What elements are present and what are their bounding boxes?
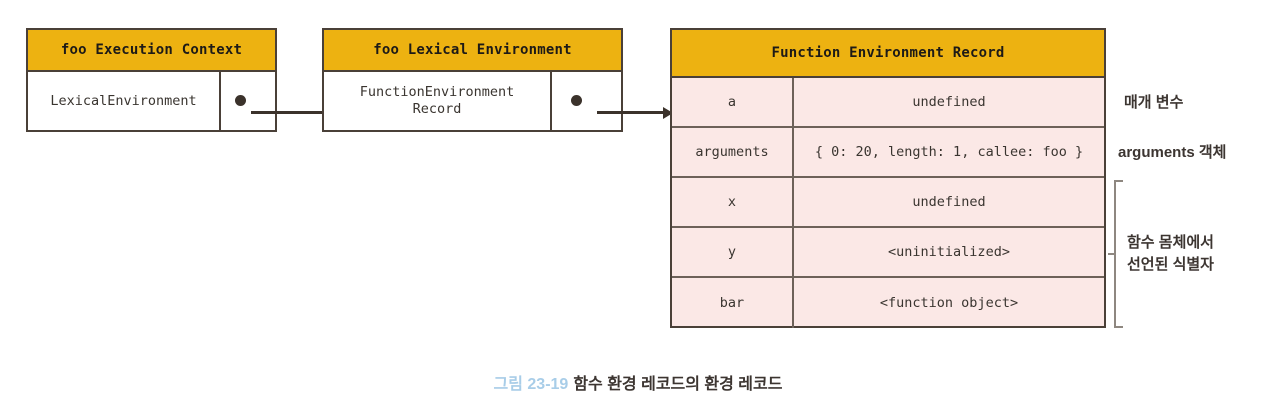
figure-caption-text: 함수 환경 레코드의 환경 레코드 — [573, 376, 782, 393]
execution-context-title: foo Execution Context — [28, 30, 275, 72]
arrow-line-le-to-fer — [597, 111, 667, 114]
table-row: arguments { 0: 20, length: 1, callee: fo… — [672, 128, 1104, 178]
record-key: y — [672, 228, 794, 276]
record-value: undefined — [794, 78, 1104, 126]
record-key: arguments — [672, 128, 794, 176]
record-key: bar — [672, 278, 794, 328]
record-value: { 0: 20, length: 1, callee: foo } — [794, 128, 1104, 176]
lexical-environment-pointer-cell — [219, 72, 275, 130]
lexical-environment-box: foo Lexical Environment FunctionEnvironm… — [322, 28, 623, 132]
annotation-arguments-object: arguments 객체 — [1118, 142, 1226, 164]
annotation-body-identifiers: 함수 몸체에서 선언된 식별자 — [1127, 232, 1214, 276]
diagram-canvas: foo Execution Context LexicalEnvironment… — [0, 0, 1276, 408]
figure-caption: 그림 23-19함수 환경 레코드의 환경 레코드 — [0, 370, 1276, 394]
group-bracket-pointer-icon — [1108, 253, 1114, 255]
record-value: undefined — [794, 178, 1104, 226]
table-row: x undefined — [672, 178, 1104, 228]
record-key: a — [672, 78, 794, 126]
execution-context-box: foo Execution Context LexicalEnvironment — [26, 28, 277, 132]
function-environment-record-pointer-cell — [550, 72, 621, 130]
table-row: a undefined — [672, 78, 1104, 128]
function-environment-record-slot-label: FunctionEnvironment Record — [324, 72, 550, 130]
table-row: bar <function object> — [672, 278, 1104, 328]
lexical-environment-slot-label: LexicalEnvironment — [28, 72, 219, 130]
lexical-environment-title: foo Lexical Environment — [324, 30, 621, 72]
record-key: x — [672, 178, 794, 226]
annotation-parameter: 매개 변수 — [1124, 92, 1183, 114]
record-value: <uninitialized> — [794, 228, 1104, 276]
table-row: y <uninitialized> — [672, 228, 1104, 278]
function-environment-record-title: Function Environment Record — [672, 30, 1104, 78]
group-bracket-icon — [1114, 180, 1123, 328]
function-environment-record-table: Function Environment Record a undefined … — [670, 28, 1106, 328]
pointer-dot-icon — [571, 95, 582, 106]
record-value: <function object> — [794, 278, 1104, 328]
figure-number: 그림 23-19 — [494, 376, 569, 393]
pointer-dot-icon — [235, 95, 246, 106]
